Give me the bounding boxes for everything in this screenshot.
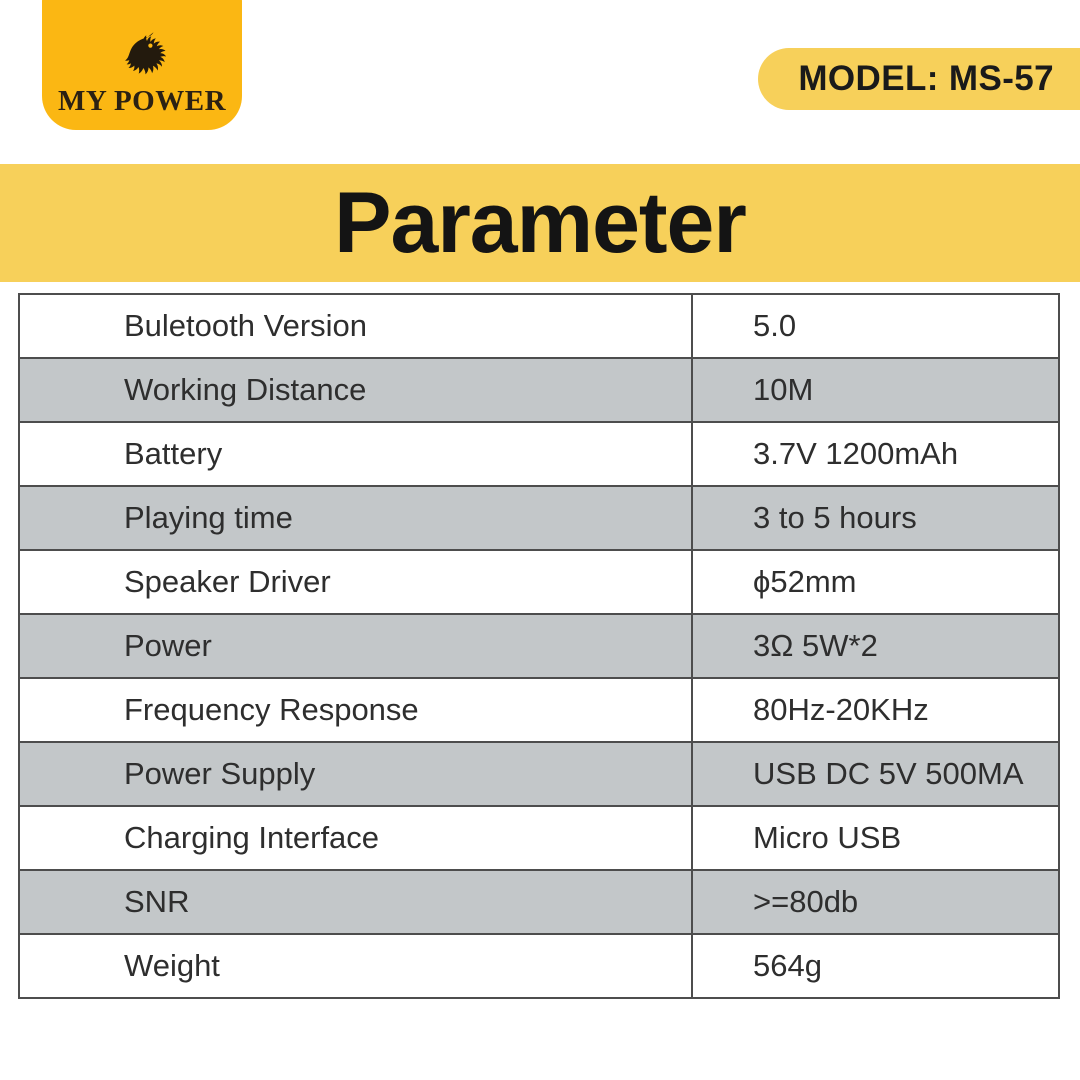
specification-table: Buletooth Version5.0Working Distance10MB… [18, 293, 1060, 999]
table-row: SNR>=80db [19, 870, 1059, 934]
spec-value-cell: >=80db [692, 870, 1059, 934]
page-title: Parameter [334, 180, 746, 266]
spec-value-cell: 564g [692, 934, 1059, 998]
spec-value-cell: 5.0 [692, 294, 1059, 358]
spec-value-cell: USB DC 5V 500MA [692, 742, 1059, 806]
spec-label-cell: Working Distance [19, 358, 692, 422]
spec-label-cell: Frequency Response [19, 678, 692, 742]
brand-wordmark: MY POWER [58, 87, 226, 116]
spec-label-cell: Weight [19, 934, 692, 998]
spec-value-cell: 3 to 5 hours [692, 486, 1059, 550]
model-badge-text: MODEL: MS-57 [798, 59, 1054, 99]
spec-label-cell: Speaker Driver [19, 550, 692, 614]
table-row: Playing time3 to 5 hours [19, 486, 1059, 550]
table-row: Charging InterfaceMicro USB [19, 806, 1059, 870]
spec-label-cell: Buletooth Version [19, 294, 692, 358]
table-row: Buletooth Version5.0 [19, 294, 1059, 358]
table-row: Weight564g [19, 934, 1059, 998]
spec-label-cell: Battery [19, 422, 692, 486]
spec-label-cell: Power Supply [19, 742, 692, 806]
table-row: Power SupplyUSB DC 5V 500MA [19, 742, 1059, 806]
spec-value-cell: 3Ω 5W*2 [692, 614, 1059, 678]
brand-logo-badge: MY POWER [42, 0, 242, 130]
table-row: Power3Ω 5W*2 [19, 614, 1059, 678]
spec-value-cell: 10M [692, 358, 1059, 422]
spec-value-cell: Micro USB [692, 806, 1059, 870]
spec-label-cell: Power [19, 614, 692, 678]
table-row: Frequency Response80Hz-20KHz [19, 678, 1059, 742]
spec-value-cell: 80Hz-20KHz [692, 678, 1059, 742]
spec-value-cell: 3.7V 1200mAh [692, 422, 1059, 486]
title-band: Parameter [0, 164, 1080, 282]
table-row: Working Distance10M [19, 358, 1059, 422]
spec-value-cell: ϕ52mm [692, 550, 1059, 614]
table-row: Speaker Driverϕ52mm [19, 550, 1059, 614]
table-row: Battery3.7V 1200mAh [19, 422, 1059, 486]
specification-table-body: Buletooth Version5.0Working Distance10MB… [19, 294, 1059, 998]
page-header: MY POWER MODEL: MS-57 [0, 0, 1080, 160]
model-badge: MODEL: MS-57 [758, 48, 1080, 110]
spec-label-cell: Playing time [19, 486, 692, 550]
spec-label-cell: SNR [19, 870, 692, 934]
horse-head-icon [112, 29, 172, 85]
spec-label-cell: Charging Interface [19, 806, 692, 870]
